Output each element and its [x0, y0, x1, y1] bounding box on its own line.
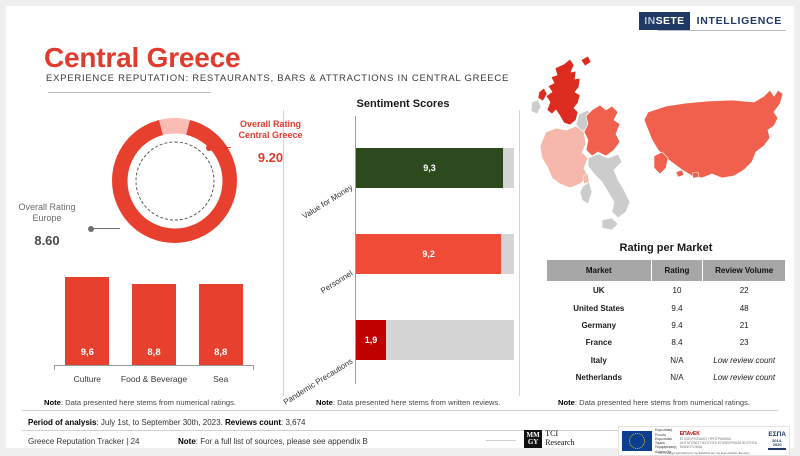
note-numerical-ratings-left: Note: Data presented here stems from num… [44, 398, 236, 407]
rating-per-market-choropleth-map [526, 34, 794, 239]
bar-column: 9,6 [54, 273, 121, 365]
table-cell-market: France [547, 334, 652, 351]
note-numerical-ratings-right: Note: Data presented here stems from num… [558, 398, 750, 407]
bar-chart-axis-tick-right [253, 365, 254, 370]
mmgy-tci-research-logo: MM GY TCI Research [524, 430, 575, 448]
tci-line2: Research [545, 439, 574, 448]
bar-chart-tick-labels: Culture Food & Beverage Sea [54, 374, 254, 384]
table-cell-rating: 9.4 [651, 299, 703, 316]
insete-intelligence-logo: INSETE INTELLIGENCE [639, 12, 786, 30]
slide-canvas: INSETE INTELLIGENCE Central Greece EXPER… [6, 6, 794, 448]
donut-europe-dashed-ring [135, 141, 214, 220]
eu-funding-logo-strip: Ευρωπαϊκή Ένωση Ευρωπαϊκό Ταμείο Περιφερ… [618, 426, 790, 456]
table-row: Germany 9.4 21 [547, 317, 786, 334]
mmgy-line2: GY [527, 439, 540, 446]
donut-ring [112, 118, 237, 243]
bar-chart-columns: 9,6 8,8 8,8 [54, 273, 254, 365]
donut-leader-line-central-greece [208, 147, 231, 148]
insete-logo-sete: SETE [656, 15, 685, 27]
panel-divider-right [519, 110, 520, 396]
donut-label-eu-line2: Europe [6, 213, 88, 224]
bar-culture: 9,6 [65, 277, 109, 365]
epanek-subtitle: ΕΠΙΧΕΙΡΗΣΙΑΚΟ ΠΡΟΓΡΑΜΜΑ ΑΝΤΑΓΩΝΙΣΤΙΚΟΤΗΤ… [680, 438, 766, 450]
bar-food-beverage: 8,8 [132, 284, 176, 365]
donut-leader-line-europe [92, 228, 120, 229]
table-cell-review-volume: Low review count [703, 352, 786, 369]
table-cell-review-volume: 23 [703, 334, 786, 351]
table-cell-rating: N/A [651, 352, 703, 369]
bar-chart-axis [54, 365, 254, 366]
bar-value-food-beverage: 8,8 [147, 347, 160, 358]
espa-logo: ΕΣΠΑ 2014-2020 [768, 432, 786, 450]
note-written-reviews: Note: Data presented here stems from wri… [316, 398, 500, 407]
table-header-row: Market Rating Review Volume [547, 260, 786, 282]
table-cell-rating: 8.4 [651, 334, 703, 351]
donut-label-eu-line1: Overall Rating [6, 202, 88, 213]
bar-tick-sea: Sea [187, 374, 254, 384]
bar-column: 8,8 [121, 273, 188, 365]
note-text: Data presented here stems from numerical… [579, 398, 750, 407]
sentiment-bar-personnel: 9,2 [356, 234, 501, 274]
sentiment-scores-title: Sentiment Scores [292, 98, 514, 110]
tracker-page-label: Greece Reputation Tracker | 24 [28, 437, 139, 446]
espa-years: 2014-2020 [768, 439, 786, 447]
sentiment-bar-pandemic-precautions: 1,9 [356, 320, 386, 360]
table-row: United States 9.4 48 [547, 299, 786, 316]
footer-sources-note: Note: For a full list of sources, please… [178, 437, 368, 446]
donut-label-europe: Overall Rating Europe [6, 202, 88, 225]
epanek-logo: ΕΠΑνΕΚ ΕΠΙΧΕΙΡΗΣΙΑΚΟ ΠΡΟΓΡΑΜΜΑ ΑΝΤΑΓΩΝΙΣ… [680, 432, 766, 449]
note-text: Data presented here stems from numerical… [65, 398, 236, 407]
intelligence-logo-text: INTELLIGENCE [691, 12, 786, 30]
note-prefix: Note [558, 398, 575, 407]
footer-divider-top [22, 410, 778, 411]
category-ratings-bar-chart: 9,6 8,8 8,8 Culture Food & Beverage Sea [36, 268, 271, 388]
bar-sea: 8,8 [199, 284, 243, 365]
sentiment-row-personnel: 9,2 [356, 234, 514, 274]
map-region-germany [584, 105, 620, 156]
tci-research-text: TCI Research [545, 430, 574, 448]
sentiment-label-personnel: Personnel [273, 269, 354, 324]
insete-logo-badge: INSETE [639, 12, 689, 30]
table-row: UK 10 22 [547, 282, 786, 300]
sentiment-row-pandemic-precautions: 1,9 [356, 320, 514, 360]
insete-logo-in: IN [644, 15, 655, 27]
table-cell-review-volume: 21 [703, 317, 786, 334]
table-cell-review-volume: 22 [703, 282, 786, 300]
donut-value-europe: 8.60 [6, 233, 88, 248]
mmgy-logo-badge: MM GY [524, 430, 542, 448]
note-prefix: Note [44, 398, 61, 407]
table-cell-review-volume: 48 [703, 299, 786, 316]
table-row: France 8.4 23 [547, 334, 786, 351]
rating-per-market-table: Market Rating Review Volume UK 10 22 Uni… [546, 259, 786, 386]
table-cell-market: Netherlands [547, 369, 652, 386]
espa-title: ΕΣΠΑ [768, 431, 786, 438]
table-cell-rating: 9.4 [651, 317, 703, 334]
table-cell-market: UK [547, 282, 652, 300]
bar-value-culture: 9,6 [81, 347, 94, 358]
table-header-market: Market [547, 260, 652, 282]
note-text: : For a full list of sources, please see… [196, 437, 368, 446]
rating-per-market-table-block: Rating per Market Market Rating Review V… [546, 242, 786, 386]
sentiment-value-pandemic-precautions: 1,9 [365, 335, 378, 345]
map-region-france [540, 126, 588, 188]
table-cell-market: United States [547, 299, 652, 316]
sentiment-row-value-for-money: 9,3 [356, 148, 514, 188]
map-region-italy [580, 154, 630, 230]
note-prefix: Note [316, 398, 333, 407]
bar-value-sea: 8,8 [214, 347, 227, 358]
overall-rating-donut-chart: Overall Rating Central Greece 9.20 Overa… [28, 106, 278, 256]
table-cell-market: Italy [547, 352, 652, 369]
footer-divider-mmgy [486, 440, 516, 441]
bar-column: 8,8 [187, 273, 254, 365]
table-cell-rating: 10 [651, 282, 703, 300]
bar-tick-culture: Culture [54, 374, 121, 384]
table-row: Netherlands N/A Low review count [547, 369, 786, 386]
map-region-united-states [644, 90, 783, 178]
rating-per-market-title: Rating per Market [546, 242, 786, 254]
table-header-review-volume: Review Volume [703, 260, 786, 282]
sentiment-scores-chart: Sentiment Scores 9,3 9,2 1,9 Value for M… [292, 98, 514, 398]
bar-chart-axis-tick-left [54, 365, 55, 370]
reviews-count-label: Reviews count [225, 418, 281, 427]
logo-underline [658, 30, 786, 31]
note-prefix: Note [178, 437, 196, 446]
sentiment-value-personnel: 9,2 [422, 249, 435, 259]
period-label: Period of analysis [28, 418, 96, 427]
table-cell-market: Germany [547, 317, 652, 334]
period-value: : July 1st, to September 30th, 2023. [96, 418, 225, 427]
table-header-rating: Rating [651, 260, 703, 282]
sentiment-bar-value-for-money: 9,3 [356, 148, 503, 188]
page-title: Central Greece [44, 42, 240, 74]
eu-stars-icon [629, 433, 645, 449]
market-map-svg [526, 34, 794, 239]
page-subtitle: EXPERIENCE REPUTATION: RESTAURANTS, BARS… [46, 73, 509, 84]
note-text: Data presented here stems from written r… [337, 398, 500, 407]
table-cell-rating: N/A [651, 369, 703, 386]
sentiment-value-value-for-money: 9,3 [423, 163, 436, 173]
map-region-ireland [531, 100, 541, 114]
title-rule [48, 92, 211, 93]
table-cell-review-volume: Low review count [703, 369, 786, 386]
eu-flag-icon [622, 431, 652, 451]
bar-tick-food-beverage: Food & Beverage [121, 374, 188, 384]
table-row: Italy N/A Low review count [547, 352, 786, 369]
reviews-count-value: : 3,674 [281, 418, 305, 427]
period-of-analysis: Period of analysis: July 1st, to Septemb… [28, 418, 305, 427]
sentiment-bar-rows: 9,3 9,2 1,9 [356, 120, 514, 382]
